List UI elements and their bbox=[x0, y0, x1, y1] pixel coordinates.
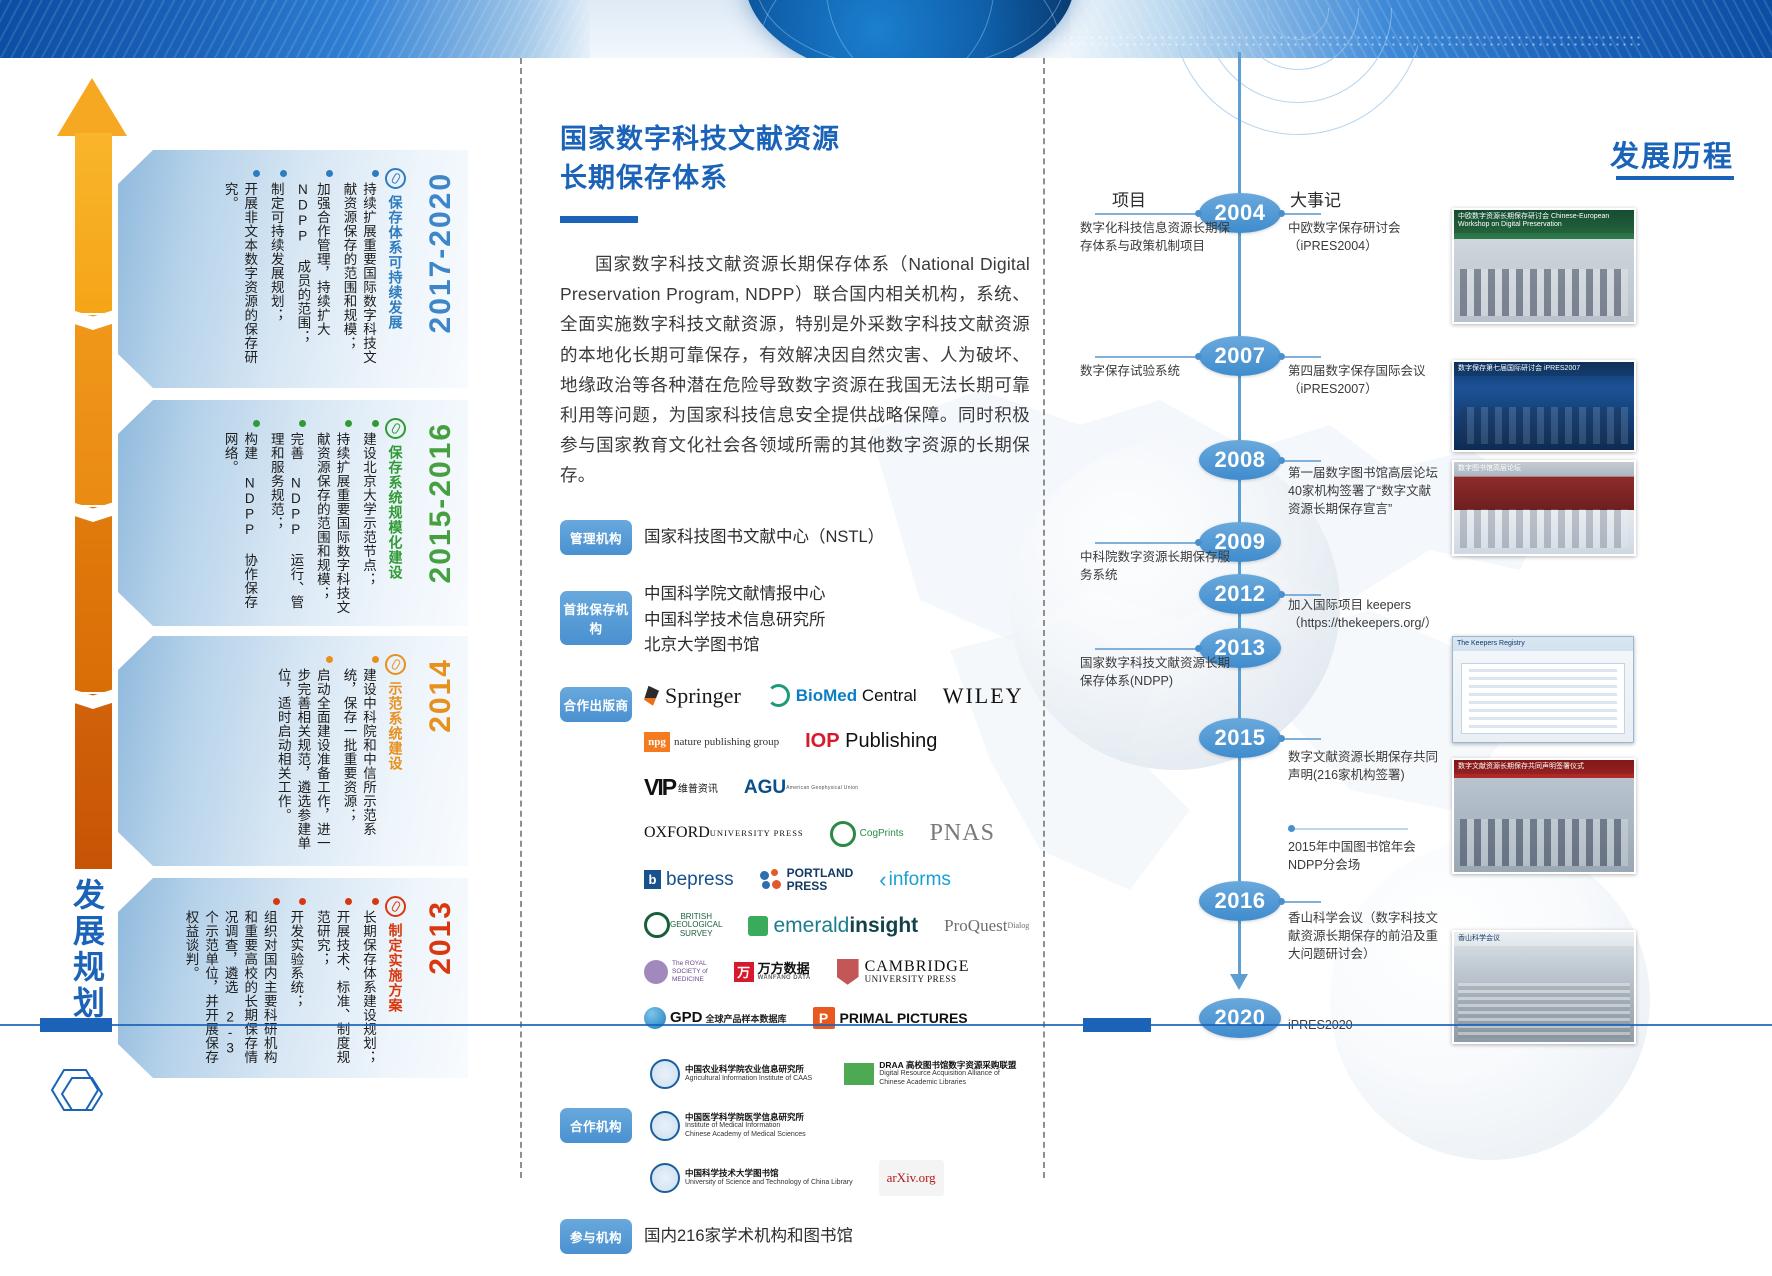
timeline-event-2015-secondary: 2015年中国图书馆年会NDPP分会场 bbox=[1288, 838, 1438, 874]
header-decorative-band bbox=[0, 0, 1772, 58]
band-right bbox=[1070, 0, 1772, 58]
timeline-project-2009: 中科院数字资源长期保存服务系统 bbox=[1080, 548, 1230, 584]
vip-logo: VIP 维普资讯 bbox=[644, 773, 718, 803]
thumbnail-caption: 数字保存第七届国际研讨会 iPRES2007 bbox=[1454, 362, 1634, 376]
right-panel-title: 发展历程 bbox=[1610, 133, 1734, 175]
stage-year-label: 2017-2020 bbox=[424, 172, 458, 333]
radar-decoration bbox=[1178, 8, 1418, 178]
informs-logo: informs bbox=[879, 865, 951, 895]
title-line-1: 国家数字科技文献资源 bbox=[560, 124, 840, 154]
timeline-node-2016[interactable]: 2016 bbox=[1199, 881, 1281, 921]
stage-year-label: 2013 bbox=[424, 900, 458, 975]
timeline-project-2007: 数字保存试验系统 bbox=[1080, 362, 1230, 380]
timeline-thumbnail-2004[interactable]: 中欧数字资源长期保存研讨会 Chinese-European Workshop … bbox=[1452, 208, 1636, 324]
stage-item: 构建 NDPP 协作保存网络。 bbox=[220, 418, 259, 618]
timeline-event-2016: 香山科学会议（数字科技文献资源长期保存的前沿及重大问题研讨会） bbox=[1288, 909, 1438, 963]
thumbnail-caption: 中欧数字资源长期保存研讨会 Chinese-European Workshop … bbox=[1454, 210, 1634, 233]
proquest-logo: ProQuestDialog bbox=[944, 911, 1029, 941]
hexagon-logo-icon bbox=[46, 1058, 110, 1122]
nature-publishing-group-logo: npgnature publishing group bbox=[644, 727, 779, 757]
biomed-central-logo: BioMed Central bbox=[767, 681, 917, 711]
stage-item: 建设中科院和中信所示范系统，保存一批重要资源； bbox=[339, 654, 378, 854]
wanfang-data-logo: 万万方数据WANFANG DATA bbox=[734, 957, 811, 987]
timeline-event-2004: 中欧数字保存研讨会（iPRES2004） bbox=[1288, 219, 1438, 255]
connector-2004-right bbox=[1281, 213, 1321, 215]
connector-2015-right bbox=[1281, 738, 1321, 740]
page-title: 国家数字科技文献资源 长期保存体系 bbox=[560, 120, 1030, 198]
first-preservation-institutions-value: 中国科学院文献情报中心 中国科学技术信息研究所 北京大学图书馆 bbox=[644, 577, 826, 659]
band-left bbox=[0, 0, 590, 58]
timeline-thumbnail-2008[interactable]: 数字图书馆高层论坛 bbox=[1452, 460, 1636, 556]
stage-heading: 保存系统规模化建设 bbox=[385, 418, 406, 580]
timeline-node-2012[interactable]: 2012 bbox=[1199, 574, 1281, 614]
stage-item: 持续扩展重要国际数字科技文献资源保存的范围和规模； bbox=[312, 418, 351, 618]
springer-logo: Springer bbox=[644, 681, 741, 711]
stage-card-2015-2016[interactable]: 2015-2016 保存系统规模化建设 建设北京大学示范节点； 持续扩展重要国际… bbox=[118, 400, 468, 626]
thumbnail-caption: 数字图书馆高层论坛 bbox=[1454, 462, 1634, 476]
stage-heading: 制定实施方案 bbox=[385, 896, 406, 1013]
tag-managing-organization: 管理机构 bbox=[560, 520, 632, 555]
right-title-underline bbox=[1616, 176, 1734, 180]
thumbnail-caption: The Keepers Registry bbox=[1453, 637, 1633, 651]
connector-2004-left bbox=[1095, 213, 1199, 215]
tag-partner-institutions: 合作机构 bbox=[560, 1108, 632, 1143]
draa-logo: DRAA 高校图书馆数字资源采购联盟Digital Resource Acqui… bbox=[838, 1056, 1022, 1092]
imicams-logo: 中国医学科学院医学信息研究所Institute of Medical Infor… bbox=[644, 1107, 812, 1145]
bottom-tab-left bbox=[40, 1018, 112, 1032]
agu-logo: AGUAmerican Geophysical Union bbox=[744, 773, 859, 803]
timeline-thumbnail-2016[interactable]: 香山科学会议 bbox=[1452, 930, 1636, 1044]
stage-item: 开发实验系统； bbox=[286, 896, 306, 1008]
right-panel-timeline: 发展历程 项目 大事记 2004 数字化科技信息资源长期保存体系与政策机制项目 … bbox=[1060, 58, 1772, 1024]
stage-item: 开展技术、标准、制度规范研究； bbox=[312, 896, 351, 1064]
timeline-event-2007: 第四届数字保存国际会议（iPRES2007） bbox=[1288, 362, 1438, 398]
bottom-tab-right bbox=[1083, 1018, 1151, 1032]
tag-partner-publishers: 合作出版商 bbox=[560, 687, 632, 722]
tag-participating-institutions: 参与机构 bbox=[560, 1219, 632, 1254]
title-line-2: 长期保存体系 bbox=[560, 163, 728, 193]
stage-card-2013[interactable]: 2013 制定实施方案 长期保存体系建设规划； 开展技术、标准、制度规范研究； … bbox=[118, 878, 468, 1078]
wiley-logo: WILEY bbox=[943, 681, 1024, 711]
arxiv-logo: arXiv.org bbox=[879, 1160, 944, 1196]
bottom-rule bbox=[0, 1024, 1772, 1026]
cogprints-logo: CogPrints bbox=[830, 819, 904, 849]
stage-year-label: 2014 bbox=[424, 658, 458, 733]
pnas-logo: PNAS bbox=[930, 819, 995, 849]
timeline-node-2008[interactable]: 2008 bbox=[1199, 440, 1281, 480]
emerald-insight-logo: emeraldinsight bbox=[748, 911, 918, 941]
connector-2013-left bbox=[1095, 648, 1199, 650]
stage-item: 长期保存体系建设规划； bbox=[358, 896, 378, 1064]
british-geological-survey-logo: BRITISHGEOLOGICALSURVEY bbox=[644, 911, 722, 941]
left-panel-title: 发展规划 bbox=[48, 878, 110, 1038]
participating-institutions-value: 国内216家学术机构和图书馆 bbox=[644, 1219, 853, 1250]
stage-card-2014[interactable]: 2014 示范系统建设 建设中科院和中信所示范系统，保存一批重要资源； 启动全面… bbox=[118, 636, 468, 866]
thumbnail-caption: 香山科学会议 bbox=[1454, 932, 1634, 946]
stage-card-2017-2020[interactable]: 2017-2020 保存体系可持续发展 持续扩展重要国际数字科技文献资源保存的范… bbox=[118, 150, 468, 388]
fold-line-left bbox=[520, 58, 522, 1178]
title-underline bbox=[560, 216, 638, 223]
timeline-thumbnail-2015[interactable]: 数字文献资源长期保存共同声明签署仪式 bbox=[1452, 758, 1636, 874]
stage-item: 制定可持续发展规划； bbox=[266, 168, 286, 322]
timeline-node-2020[interactable]: 2020 bbox=[1199, 998, 1281, 1038]
connector-2008-right bbox=[1281, 460, 1321, 462]
timeline-event-2015: 数字文献资源长期保存共同声明(216家机构签署) bbox=[1288, 748, 1438, 784]
timeline-thumbnail-2007[interactable]: 数字保存第七届国际研讨会 iPRES2007 bbox=[1452, 360, 1636, 452]
check-badge-icon bbox=[385, 896, 406, 917]
ustc-library-logo: 中国科学技术大学图书馆University of Science and Tec… bbox=[644, 1159, 859, 1197]
stage-item: 持续扩展重要国际数字科技文献资源保存的范围和规模； bbox=[339, 168, 378, 368]
gpd-logo: GPD全球产品样本数据库 bbox=[644, 1003, 787, 1033]
middle-panel-overview: 国家数字科技文献资源 长期保存体系 国家数字科技文献资源长期保存体系（Natio… bbox=[560, 120, 1030, 1276]
connector-2007-left bbox=[1095, 356, 1199, 358]
timeline-axis bbox=[1238, 52, 1241, 982]
stage-heading: 保存体系可持续发展 bbox=[385, 168, 406, 330]
stage-heading: 示范系统建设 bbox=[385, 654, 406, 771]
timeline-thumbnail-2012[interactable]: The Keepers Registry bbox=[1452, 636, 1634, 743]
fold-line-right bbox=[1043, 58, 1045, 1178]
stage-item: 加强合作管理，持续扩大 NDPP 成员的范围； bbox=[293, 168, 332, 368]
timeline-event-2012: 加入国际项目 keepers（https://thekeepers.org/） bbox=[1288, 596, 1438, 632]
globe-graphic bbox=[745, 0, 1075, 58]
left-panel-development-plan: 发展规划 2017-2020 保存体系可持续发展 持续扩展重要国际数字科技文献资… bbox=[0, 58, 520, 1024]
thumbnail-caption: 数字文献资源长期保存共同声明签署仪式 bbox=[1454, 760, 1634, 774]
iop-publishing-logo: IOP Publishing bbox=[805, 727, 937, 757]
stage-year-label: 2015-2016 bbox=[424, 422, 458, 583]
timeline-column-header-projects: 项目 bbox=[1112, 186, 1146, 211]
timeline-project-2013: 国家数字科技文献资源长期保存体系(NDPP) bbox=[1080, 654, 1230, 690]
stage-item: 完善 NDPP 运行、管理和服务规范； bbox=[266, 418, 305, 618]
connector-2015-sub bbox=[1288, 828, 1408, 830]
bepress-logo: bbepress bbox=[644, 865, 734, 895]
publisher-logo-grid: Springer BioMed Central WILEY npgnature … bbox=[644, 681, 1030, 1033]
cambridge-university-press-logo: CAMBRIDGEUNIVERSITY PRESS bbox=[837, 957, 970, 987]
row-participating-institutions: 参与机构 国内216家学术机构和图书馆 bbox=[560, 1219, 1030, 1254]
row-partner-publishers: 合作出版商 Springer BioMed Central WILEY npgn… bbox=[560, 681, 1030, 1033]
stage-item: 启动全面建设准备工作，进一步完善相关规范，遴选参建单位，适时启动相关工作。 bbox=[273, 654, 332, 854]
stage-item: 组织对国内主要科研机构和重要高校的长期保存情况调查，遴选 2-3 个示范单位，并… bbox=[181, 896, 279, 1064]
row-partner-institutions: 合作机构 中国农业科学院农业信息研究所Agricultural Informat… bbox=[560, 1055, 1030, 1197]
intro-paragraph: 国家数字科技文献资源长期保存体系（National Digital Preser… bbox=[560, 249, 1030, 490]
managing-organization-value: 国家科技图书文献中心（NSTL） bbox=[644, 520, 884, 551]
connector-2009-left bbox=[1095, 542, 1199, 544]
connector-2016-right bbox=[1281, 901, 1321, 903]
stage-item: 开展非文本数字资源的保存研究。 bbox=[220, 168, 259, 368]
connector-2007-right bbox=[1281, 356, 1321, 358]
check-badge-icon bbox=[385, 418, 406, 439]
check-badge-icon bbox=[385, 654, 406, 675]
timeline-arrow-icon bbox=[1230, 974, 1248, 990]
row-managing-organization: 管理机构 国家科技图书文献中心（NSTL） bbox=[560, 520, 1030, 555]
timeline-node-2015[interactable]: 2015 bbox=[1199, 718, 1281, 758]
timeline-event-2008: 第一届数字图书馆高层论坛40家机构签署了“数字文献资源长期保存宣言” bbox=[1288, 464, 1438, 518]
royal-society-of-medicine-logo: The ROYALSOCIETY ofMEDICINE bbox=[644, 957, 708, 987]
stage-item: 建设北京大学示范节点； bbox=[358, 418, 378, 586]
portland-press-logo: PORTLANDPRESS bbox=[760, 865, 854, 895]
partner-institution-logo-grid: 中国农业科学院农业信息研究所Agricultural Information I… bbox=[644, 1055, 1030, 1197]
timeline-column-header-events: 大事记 bbox=[1290, 186, 1341, 211]
timeline-project-2004: 数字化科技信息资源长期保存体系与政策机制项目 bbox=[1080, 219, 1230, 255]
primal-pictures-logo: PPRIMAL PICTURES bbox=[813, 1003, 968, 1033]
oxford-university-press-logo: OXFORDUNIVERSITY PRESS bbox=[644, 819, 804, 849]
check-badge-icon bbox=[385, 168, 406, 189]
caas-aii-logo: 中国农业科学院农业信息研究所Agricultural Information I… bbox=[644, 1055, 818, 1093]
tag-first-preservation-institutions: 首批保存机构 bbox=[560, 591, 632, 645]
row-first-preservation-institutions: 首批保存机构 中国科学院文献情报中心 中国科学技术信息研究所 北京大学图书馆 bbox=[560, 577, 1030, 659]
